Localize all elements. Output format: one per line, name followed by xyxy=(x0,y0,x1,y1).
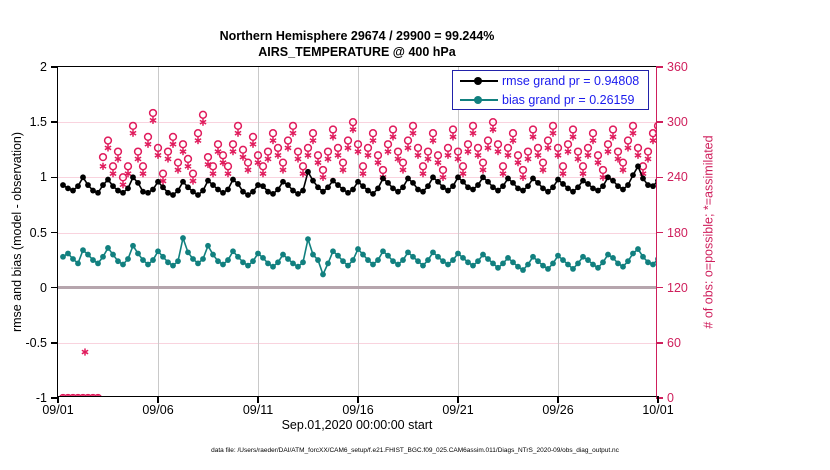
obs-possible-marker xyxy=(230,141,237,148)
obs-assimilated-marker xyxy=(585,152,591,159)
series-point-bias xyxy=(315,257,321,263)
series-point-rmse xyxy=(610,178,616,184)
series-point-rmse xyxy=(180,179,186,185)
y-tick-right xyxy=(656,342,663,343)
series-point-bias xyxy=(470,263,476,269)
obs-assimilated-marker xyxy=(430,137,436,144)
obs-possible-marker xyxy=(595,152,602,159)
series-point-rmse xyxy=(475,182,481,188)
series-point-rmse xyxy=(175,188,181,194)
series-point-bias xyxy=(635,246,641,252)
obs-assimilated-marker xyxy=(105,144,111,151)
obs-assimilated-marker xyxy=(210,170,216,177)
series-point-rmse xyxy=(225,187,231,193)
obs-possible-marker xyxy=(100,154,107,161)
x-tick-label: 09/06 xyxy=(142,403,173,417)
x-tick-label: 09/16 xyxy=(342,403,373,417)
series-point-rmse xyxy=(410,180,416,186)
obs-assimilated-marker xyxy=(455,155,461,162)
obs-possible-marker xyxy=(585,145,592,152)
obs-assimilated-marker xyxy=(450,133,456,140)
series-point-rmse xyxy=(445,188,451,194)
obs-possible-marker xyxy=(395,148,402,155)
obs-assimilated-marker xyxy=(155,152,161,159)
x-axis-title: Sep.01,2020 00:00:00 start xyxy=(57,418,657,432)
series-point-rmse xyxy=(370,191,376,197)
obs-possible-marker xyxy=(485,137,492,144)
obs-assimilated-marker xyxy=(225,170,231,177)
series-point-rmse xyxy=(235,181,241,187)
obs-assimilated-marker xyxy=(485,144,491,151)
obs-assimilated-marker xyxy=(82,348,88,355)
y-tick-left xyxy=(51,177,58,178)
series-point-bias xyxy=(305,236,311,242)
series-point-bias xyxy=(185,249,191,255)
series-point-rmse xyxy=(440,184,446,190)
obs-assimilated-marker xyxy=(195,137,201,144)
obs-assimilated-marker xyxy=(410,130,416,137)
series-point-bias xyxy=(150,257,156,263)
chart-legend[interactable]: rmse grand pr = 0.94808 bias grand pr = … xyxy=(452,70,649,110)
series-point-rmse xyxy=(270,191,276,197)
obs-assimilated-marker xyxy=(335,152,341,159)
obs-possible-marker xyxy=(630,122,637,129)
series-point-bias xyxy=(110,252,116,258)
obs-possible-marker xyxy=(130,122,137,129)
series-point-rmse xyxy=(300,188,306,194)
series-point-rmse xyxy=(335,182,341,188)
obs-possible-marker xyxy=(205,154,212,161)
obs-possible-marker xyxy=(415,145,422,152)
series-point-rmse xyxy=(220,190,226,196)
series-point-bias xyxy=(180,235,186,241)
series-point-bias xyxy=(80,247,86,253)
series-point-rmse xyxy=(165,190,171,196)
series-point-rmse xyxy=(305,169,311,175)
obs-possible-marker xyxy=(145,133,152,140)
obs-possible-marker xyxy=(245,159,252,166)
obs-assimilated-marker xyxy=(145,141,151,148)
obs-possible-marker xyxy=(635,145,642,152)
obs-assimilated-marker xyxy=(610,133,616,140)
series-point-bias xyxy=(465,259,471,265)
obs-assimilated-marker xyxy=(360,170,366,177)
series-point-bias xyxy=(265,260,271,266)
series-point-bias xyxy=(65,251,71,257)
y-tick-label-left: 0.5 xyxy=(30,226,47,240)
obs-possible-marker xyxy=(590,130,597,137)
obs-assimilated-marker xyxy=(605,148,611,155)
obs-assimilated-marker xyxy=(470,130,476,137)
obs-assimilated-marker xyxy=(595,159,601,166)
series-point-rmse xyxy=(265,189,271,195)
obs-assimilated-marker xyxy=(490,126,496,133)
series-point-bias xyxy=(595,265,601,271)
series-point-bias xyxy=(615,260,621,266)
series-point-rmse xyxy=(240,189,246,195)
obs-possible-marker xyxy=(175,159,182,166)
series-point-rmse xyxy=(140,189,146,195)
obs-assimilated-marker xyxy=(350,126,356,133)
legend-item-rmse[interactable]: rmse grand pr = 0.94808 xyxy=(453,71,639,91)
series-point-bias xyxy=(425,257,431,263)
series-point-rmse xyxy=(570,189,576,195)
series-point-bias xyxy=(75,260,81,266)
y-tick-label-left: 0 xyxy=(40,281,47,295)
y-tick-label-right: 360 xyxy=(667,60,688,74)
series-point-rmse xyxy=(510,180,516,186)
series-point-rmse xyxy=(550,184,556,190)
x-tick xyxy=(157,396,158,403)
obs-assimilated-marker xyxy=(355,148,361,155)
series-point-rmse xyxy=(555,177,561,183)
y-tick-left xyxy=(51,342,58,343)
obs-possible-marker xyxy=(320,167,327,174)
obs-possible-marker xyxy=(495,141,502,148)
series-point-bias xyxy=(90,257,96,263)
obs-possible-marker xyxy=(500,163,507,170)
obs-assimilated-marker xyxy=(645,155,651,162)
series-point-bias xyxy=(165,259,171,265)
obs-possible-marker xyxy=(535,145,542,152)
obs-assimilated-marker xyxy=(375,159,381,166)
obs-assimilated-marker xyxy=(565,148,571,155)
obs-possible-marker xyxy=(530,126,537,133)
series-point-rmse xyxy=(75,183,81,189)
obs-possible-marker xyxy=(185,156,192,163)
series-point-bias xyxy=(220,262,226,268)
obs-assimilated-marker xyxy=(620,166,626,173)
obs-possible-marker xyxy=(560,163,567,170)
series-point-bias xyxy=(625,258,631,264)
series-point-bias xyxy=(100,254,106,260)
series-point-rmse xyxy=(90,188,96,194)
series-point-rmse xyxy=(515,185,521,191)
y-tick-label-left: 1.5 xyxy=(30,115,47,129)
series-point-bias xyxy=(145,262,151,268)
obs-assimilated-marker xyxy=(625,144,631,151)
series-point-rmse xyxy=(255,182,261,188)
title-line-1: Northern Hemisphere 29674 / 29900 = 99.2… xyxy=(57,28,657,44)
x-tick xyxy=(657,396,658,403)
series-point-bias xyxy=(310,252,316,258)
y-tick-left xyxy=(51,121,58,122)
series-point-rmse xyxy=(105,177,111,183)
y-tick-right xyxy=(656,121,663,122)
series-point-rmse xyxy=(485,179,491,185)
obs-possible-marker xyxy=(655,122,656,129)
obs-possible-marker xyxy=(170,133,177,140)
obs-assimilated-marker xyxy=(235,130,241,137)
obs-possible-marker xyxy=(410,122,417,129)
series-point-rmse xyxy=(70,188,76,194)
series-point-bias xyxy=(630,251,636,257)
series-point-rmse xyxy=(465,184,471,190)
obs-possible-marker xyxy=(405,137,412,144)
series-point-rmse xyxy=(160,184,166,190)
series-point-bias xyxy=(515,264,521,270)
series-point-bias xyxy=(540,263,546,269)
series-point-bias xyxy=(435,254,441,260)
series-point-rmse xyxy=(345,190,351,196)
series-point-rmse xyxy=(435,179,441,185)
obs-possible-marker xyxy=(525,148,532,155)
obs-possible-marker xyxy=(575,148,582,155)
obs-possible-marker xyxy=(370,130,377,137)
obs-assimilated-marker xyxy=(590,137,596,144)
series-point-bias xyxy=(575,260,581,266)
plot-area: -1-0.500.511.5206012018024030036009/0109… xyxy=(57,66,657,397)
series-point-rmse xyxy=(355,179,361,185)
series-point-rmse xyxy=(215,187,221,193)
obs-assimilated-marker xyxy=(580,170,586,177)
obs-possible-marker xyxy=(580,163,587,170)
series-point-bias xyxy=(385,253,391,259)
obs-possible-marker xyxy=(510,130,517,137)
y-tick-label-left: 2 xyxy=(40,60,47,74)
obs-assimilated-marker xyxy=(170,141,176,148)
series-point-rmse xyxy=(390,185,396,191)
series-point-rmse xyxy=(385,180,391,186)
obs-assimilated-marker xyxy=(420,170,426,177)
series-point-bias xyxy=(235,254,241,260)
obs-assimilated-marker xyxy=(405,144,411,151)
series-point-rmse xyxy=(450,183,456,189)
obs-possible-marker xyxy=(600,167,607,174)
obs-possible-marker xyxy=(550,122,557,129)
obs-assimilated-marker xyxy=(460,170,466,177)
obs-possible-marker xyxy=(250,133,257,140)
series-point-bias xyxy=(360,252,366,258)
series-point-rmse xyxy=(405,176,411,182)
obs-possible-marker xyxy=(480,159,487,166)
obs-possible-marker xyxy=(285,137,292,144)
obs-assimilated-marker xyxy=(185,163,191,170)
series-point-rmse xyxy=(290,188,296,194)
obs-assimilated-marker xyxy=(635,152,641,159)
obs-assimilated-marker xyxy=(200,119,206,126)
series-point-bias xyxy=(330,248,336,254)
series-point-bias xyxy=(225,257,231,263)
series-point-bias xyxy=(520,267,526,273)
legend-item-bias[interactable]: bias grand pr = 0.26159 xyxy=(453,90,634,110)
obs-assimilated-marker xyxy=(315,159,321,166)
obs-assimilated-marker xyxy=(325,155,331,162)
obs-assimilated-marker xyxy=(320,174,326,181)
obs-possible-marker xyxy=(350,119,357,126)
obs-possible-marker xyxy=(135,148,142,155)
obs-assimilated-marker xyxy=(175,166,181,173)
series-point-bias xyxy=(255,251,261,257)
obs-possible-marker xyxy=(365,145,372,152)
series-point-bias xyxy=(95,260,101,266)
obs-assimilated-marker xyxy=(115,155,121,162)
obs-assimilated-marker xyxy=(275,152,281,159)
obs-possible-marker xyxy=(360,163,367,170)
series-point-bias xyxy=(365,257,371,263)
obs-assimilated-marker xyxy=(525,155,531,162)
series-point-bias xyxy=(415,258,421,264)
obs-possible-marker xyxy=(105,137,112,144)
obs-possible-marker xyxy=(300,163,307,170)
series-point-rmse xyxy=(100,182,106,188)
y-tick-left xyxy=(51,287,58,288)
obs-assimilated-marker xyxy=(245,166,251,173)
obs-possible-marker xyxy=(380,167,387,174)
obs-possible-marker xyxy=(445,145,452,152)
series-point-rmse xyxy=(605,174,611,180)
obs-assimilated-marker xyxy=(390,133,396,140)
series-point-rmse xyxy=(585,181,591,187)
legend-label-bias: bias grand pr = 0.26159 xyxy=(502,93,634,107)
series-point-rmse xyxy=(620,187,626,193)
series-point-rmse xyxy=(520,188,526,194)
obs-possible-marker xyxy=(450,126,457,133)
series-point-bias xyxy=(240,259,246,265)
obs-assimilated-marker xyxy=(265,155,271,162)
series-point-rmse xyxy=(455,174,461,180)
obs-assimilated-marker xyxy=(520,174,526,181)
obs-possible-marker xyxy=(280,159,287,166)
series-point-rmse xyxy=(560,181,566,187)
series-point-bias xyxy=(610,255,616,261)
x-tick xyxy=(457,396,458,403)
obs-possible-marker xyxy=(430,130,437,137)
series-point-bias xyxy=(525,262,531,268)
obs-assimilated-marker xyxy=(650,137,656,144)
obs-assimilated-marker xyxy=(435,159,441,166)
series-point-bias xyxy=(490,260,496,266)
series-point-bias xyxy=(160,254,166,260)
series-point-rmse xyxy=(380,176,386,182)
obs-assimilated-marker xyxy=(570,133,576,140)
obs-assimilated-marker xyxy=(505,152,511,159)
obs-assimilated-marker xyxy=(120,181,126,188)
obs-possible-marker xyxy=(275,145,282,152)
series-line-bias xyxy=(63,238,656,274)
series-point-bias xyxy=(480,252,486,258)
y-tick-label-right: 60 xyxy=(667,336,681,350)
series-point-rmse xyxy=(110,183,116,189)
series-point-rmse xyxy=(415,187,421,193)
x-tick-label: 10/01 xyxy=(642,403,673,417)
series-point-bias xyxy=(440,258,446,264)
series-point-rmse xyxy=(530,176,536,182)
series-point-rmse xyxy=(130,174,136,180)
obs-possible-marker xyxy=(180,141,187,148)
obs-possible-marker xyxy=(465,141,472,148)
series-point-rmse xyxy=(250,189,256,195)
series-point-bias xyxy=(115,258,121,264)
obs-possible-marker xyxy=(160,170,167,177)
series-point-bias xyxy=(445,262,451,268)
series-point-bias xyxy=(460,255,466,261)
series-point-bias xyxy=(570,266,576,272)
data-file-caption: data file: /Users/raeder/DAI/ATM_forcXX/… xyxy=(0,447,830,454)
series-point-rmse xyxy=(310,178,316,184)
obs-assimilated-marker xyxy=(130,130,136,137)
series-point-bias xyxy=(580,254,586,260)
series-point-rmse xyxy=(275,187,281,193)
obs-possible-marker xyxy=(440,167,447,174)
obs-possible-marker xyxy=(460,163,467,170)
obs-possible-marker xyxy=(140,163,147,170)
series-point-bias xyxy=(190,256,196,262)
series-point-bias xyxy=(245,263,251,269)
series-point-rmse xyxy=(65,185,71,191)
series-point-rmse xyxy=(630,172,636,178)
legend-marker-rmse xyxy=(458,74,500,88)
series-point-bias xyxy=(125,256,131,262)
obs-assimilated-marker xyxy=(480,166,486,173)
obs-assimilated-marker xyxy=(385,148,391,155)
obs-possible-marker xyxy=(555,145,562,152)
series-point-bias xyxy=(270,264,276,270)
series-point-bias xyxy=(155,248,161,254)
series-point-rmse xyxy=(245,192,251,198)
series-point-rmse xyxy=(135,180,141,186)
series-point-rmse xyxy=(60,182,66,188)
obs-assimilated-marker xyxy=(465,148,471,155)
series-point-bias xyxy=(375,257,381,263)
obs-possible-marker xyxy=(295,148,302,155)
series-point-bias xyxy=(195,260,201,266)
series-point-rmse xyxy=(615,183,621,189)
x-tick xyxy=(557,396,558,403)
obs-assimilated-marker xyxy=(345,144,351,151)
obs-assimilated-marker xyxy=(305,152,311,159)
series-point-rmse xyxy=(330,178,336,184)
series-point-rmse xyxy=(650,183,656,189)
x-tick xyxy=(257,396,258,403)
obs-assimilated-marker xyxy=(330,133,336,140)
series-point-rmse xyxy=(590,185,596,191)
obs-assimilated-marker xyxy=(475,152,481,159)
obs-possible-marker xyxy=(335,145,342,152)
x-tick-label: 09/01 xyxy=(42,403,73,417)
series-point-rmse xyxy=(545,189,551,195)
obs-possible-marker xyxy=(115,148,122,155)
series-point-rmse xyxy=(470,187,476,193)
obs-possible-marker xyxy=(195,130,202,137)
y-tick-right xyxy=(656,232,663,233)
obs-assimilated-marker xyxy=(370,137,376,144)
series-point-rmse xyxy=(565,185,571,191)
obs-assimilated-marker xyxy=(165,155,171,162)
series-point-rmse xyxy=(375,185,381,191)
y-tick-label-right: 240 xyxy=(667,170,688,184)
y-tick-left xyxy=(51,232,58,233)
figure-root: Northern Hemisphere 29674 / 29900 = 99.2… xyxy=(0,0,830,470)
obs-possible-marker xyxy=(165,148,172,155)
obs-possible-marker xyxy=(265,148,272,155)
obs-assimilated-marker xyxy=(160,177,166,184)
obs-assimilated-marker xyxy=(290,130,296,137)
page-title: Northern Hemisphere 29674 / 29900 = 99.2… xyxy=(57,28,657,60)
series-point-bias xyxy=(295,264,301,270)
series-point-bias xyxy=(505,255,511,261)
y-tick-left xyxy=(51,66,58,67)
series-point-bias xyxy=(585,257,591,263)
obs-possible-marker xyxy=(565,141,572,148)
series-point-rmse xyxy=(430,174,436,180)
obs-possible-marker xyxy=(200,111,207,118)
obs-possible-marker xyxy=(470,122,477,129)
series-point-rmse xyxy=(85,182,91,188)
y-axis-right-title: # of obs: o=possible; *=assimilated xyxy=(700,66,718,397)
series-point-bias xyxy=(280,252,286,258)
series-point-rmse xyxy=(260,183,266,189)
